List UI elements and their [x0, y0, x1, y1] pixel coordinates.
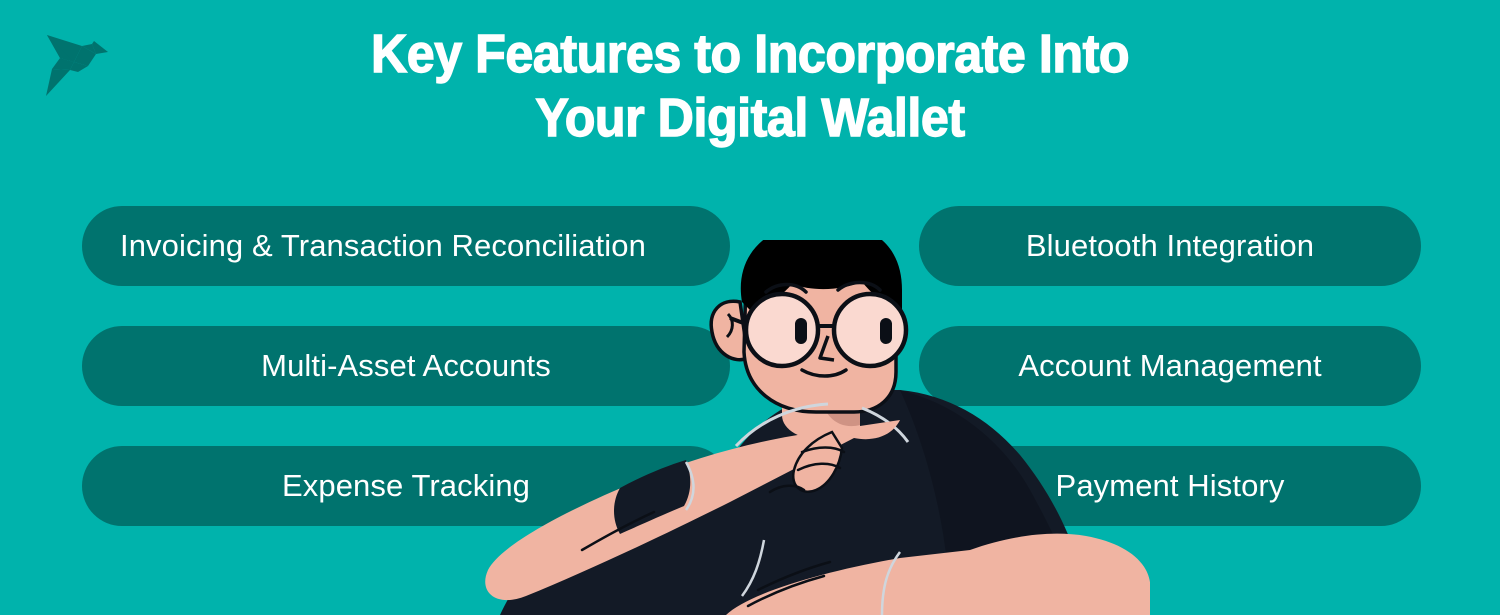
- feature-pill-invoicing-transaction-reconciliation[interactable]: Invoicing & Transaction Reconciliation: [82, 206, 730, 286]
- feature-pill-payment-history[interactable]: Payment History: [919, 446, 1421, 526]
- feature-pill-multi-asset-accounts[interactable]: Multi-Asset Accounts: [82, 326, 730, 406]
- feature-pill-label: Multi-Asset Accounts: [261, 348, 551, 384]
- feature-pill-label: Account Management: [1018, 348, 1321, 384]
- feature-pill-account-management[interactable]: Account Management: [919, 326, 1421, 406]
- feature-pill-label: Invoicing & Transaction Reconciliation: [120, 228, 646, 264]
- feature-pills-layer: Invoicing & Transaction Reconciliation M…: [0, 0, 1500, 615]
- feature-pill-label: Expense Tracking: [282, 468, 530, 504]
- feature-pill-bluetooth-integration[interactable]: Bluetooth Integration: [919, 206, 1421, 286]
- feature-pill-label: Payment History: [1056, 468, 1285, 504]
- feature-pill-label: Bluetooth Integration: [1026, 228, 1314, 264]
- infographic-canvas: Key Features to Incorporate Into Your Di…: [0, 0, 1500, 615]
- feature-pill-expense-tracking[interactable]: Expense Tracking: [82, 446, 730, 526]
